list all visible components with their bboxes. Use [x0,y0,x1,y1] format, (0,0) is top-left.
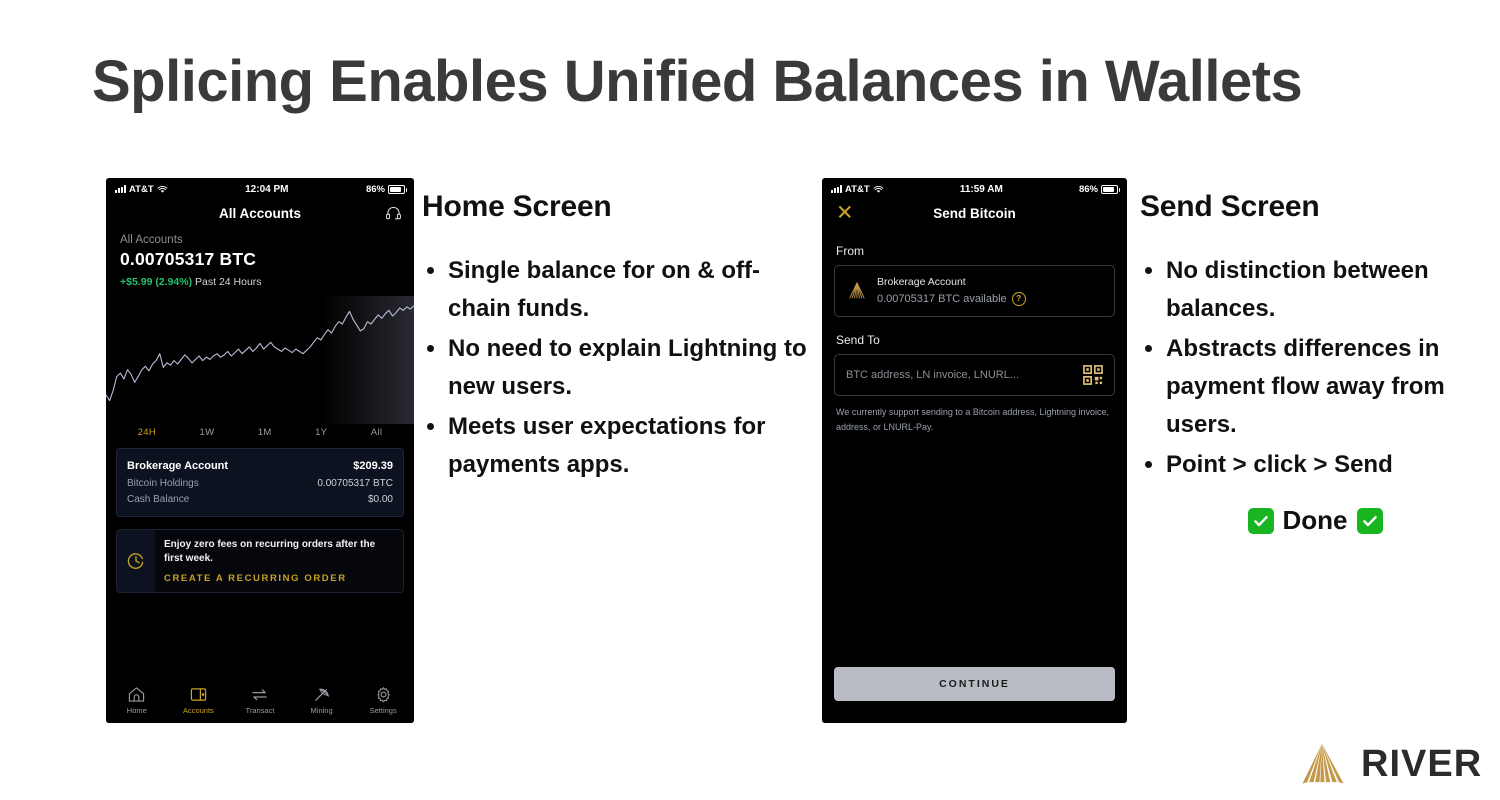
send-to-field[interactable]: BTC address, LN invoice, LNURL... [834,354,1115,396]
battery-percent: 86% [366,184,385,195]
bullet-list: Single balance for on & off-chain funds.… [422,252,807,483]
river-mountain-icon [846,281,868,301]
from-account-name: Brokerage Account [877,276,1026,288]
pickaxe-icon [312,686,331,703]
nav-title: Send Bitcoin [834,206,1115,221]
range-1w[interactable]: 1W [200,427,215,438]
range-1m[interactable]: 1M [258,427,272,438]
table-row: Cash Balance $0.00 [127,492,393,508]
done-badge: Done [1140,505,1490,536]
row-key: Cash Balance [127,494,189,505]
brokerage-account-card[interactable]: Brokerage Account $209.39 Bitcoin Holdin… [116,448,404,517]
row-value: $0.00 [368,494,393,505]
send-to-input[interactable]: BTC address, LN invoice, LNURL... [846,369,1019,381]
account-scope-label: All Accounts [120,234,400,246]
battery-icon [1101,185,1118,194]
status-time: 12:04 PM [168,184,366,195]
tab-home[interactable]: Home [109,686,165,715]
river-wordmark: RIVER [1361,743,1482,786]
tab-label: Accounts [183,706,214,715]
tab-settings[interactable]: Settings [355,686,411,715]
qr-code-icon[interactable] [1083,365,1103,385]
nav-title: All Accounts [118,206,402,221]
done-label: Done [1283,505,1348,536]
wallet-icon [189,686,208,703]
table-row: Bitcoin Holdings 0.00705317 BTC [127,476,393,492]
wifi-icon [873,185,884,194]
close-x-icon[interactable]: ✕ [836,203,854,224]
list-item: Abstracts differences in payment flow aw… [1166,330,1490,444]
headset-icon[interactable] [385,206,402,221]
range-1y[interactable]: 1Y [315,427,327,438]
signal-bars-icon [831,185,842,193]
tab-accounts[interactable]: Accounts [170,686,226,715]
balance-change: +$5.99 (2.94%) Past 24 Hours [120,276,400,288]
list-item: No need to explain Lightning to new user… [448,330,807,406]
list-item: No distinction between balances. [1166,252,1490,328]
phone-mockup-send: AT&T 11:59 AM 86% ✕ Send Bitcoin From [822,178,1127,723]
account-total: $209.39 [353,460,393,472]
from-account-selector[interactable]: Brokerage Account 0.00705317 BTC availab… [834,265,1115,317]
battery-icon [388,185,405,194]
bottom-tab-bar[interactable]: Home Accounts Transact [106,677,414,723]
carrier-label: AT&T [129,184,154,195]
chart-range-selector[interactable]: 24H 1W 1M 1Y All [106,424,414,438]
battery-percent: 86% [1079,184,1098,195]
tab-label: Mining [311,706,333,715]
create-recurring-order-button[interactable]: CREATE A RECURRING ORDER [164,573,393,584]
slide-root: Splicing Enables Unified Balances in Wal… [0,0,1500,800]
recurring-clock-icon [127,552,145,570]
question-mark-icon[interactable]: ? [1012,292,1026,306]
send-to-helper-text: We currently support sending to a Bitcoi… [836,405,1113,436]
promo-text: Enjoy zero fees on recurring orders afte… [164,538,393,567]
phone-mockup-home: AT&T 12:04 PM 86% All Accounts [106,178,414,723]
from-available-row: 0.00705317 BTC available ? [877,292,1026,306]
status-bar: AT&T 11:59 AM 86% [822,178,1127,198]
range-24h[interactable]: 24H [138,427,156,438]
change-amount: +$5.99 (2.94%) [120,276,192,288]
page-title: Splicing Enables Unified Balances in Wal… [92,48,1302,115]
nav-header-send: ✕ Send Bitcoin [822,198,1127,228]
send-screen-notes: Send Screen No distinction between balan… [1140,190,1490,536]
from-section-label: From [822,244,1127,258]
promo-icon-strip [117,530,155,592]
balance-block: All Accounts 0.00705317 BTC +$5.99 (2.94… [106,228,414,290]
row-value: 0.00705317 BTC [317,478,393,489]
status-bar: AT&T 12:04 PM 86% [106,178,414,198]
status-time: 11:59 AM [884,184,1079,195]
list-item: Single balance for on & off-chain funds. [448,252,807,328]
river-logo: RIVER [1297,742,1482,786]
wifi-icon [157,185,168,194]
home-screen-notes: Home Screen Single balance for on & off-… [422,190,807,485]
nav-header-home: All Accounts [106,198,414,228]
chart-line [106,296,414,424]
price-chart[interactable] [106,296,414,424]
change-period: Past 24 Hours [195,276,262,288]
carrier-label: AT&T [845,184,870,195]
account-title: Brokerage Account [127,460,228,472]
range-all[interactable]: All [371,427,382,438]
send-to-section-label: Send To [822,333,1127,347]
from-available-amount: 0.00705317 BTC available [877,293,1007,305]
tab-label: Home [127,706,147,715]
bullet-list: No distinction between balances. Abstrac… [1140,252,1490,483]
tab-transact[interactable]: Transact [232,686,288,715]
section-heading: Home Screen [422,190,807,224]
river-mountain-icon [1297,742,1347,786]
continue-button[interactable]: CONTINUE [834,667,1115,701]
signal-bars-icon [115,185,126,193]
row-key: Bitcoin Holdings [127,478,199,489]
tab-mining[interactable]: Mining [294,686,350,715]
tab-label: Settings [370,706,397,715]
total-balance: 0.00705317 BTC [120,249,400,270]
list-item: Meets user expectations for payments app… [448,408,807,484]
tab-label: Transact [246,706,275,715]
gear-icon [374,686,393,703]
card-header-row: Brokerage Account $209.39 [127,457,393,476]
home-icon [127,686,146,703]
list-item: Point > click > Send [1166,446,1490,484]
section-heading: Send Screen [1140,190,1490,224]
green-check-icon [1248,508,1274,534]
recurring-order-promo[interactable]: Enjoy zero fees on recurring orders afte… [116,529,404,593]
green-check-icon [1357,508,1383,534]
transfer-arrows-icon [250,686,269,703]
